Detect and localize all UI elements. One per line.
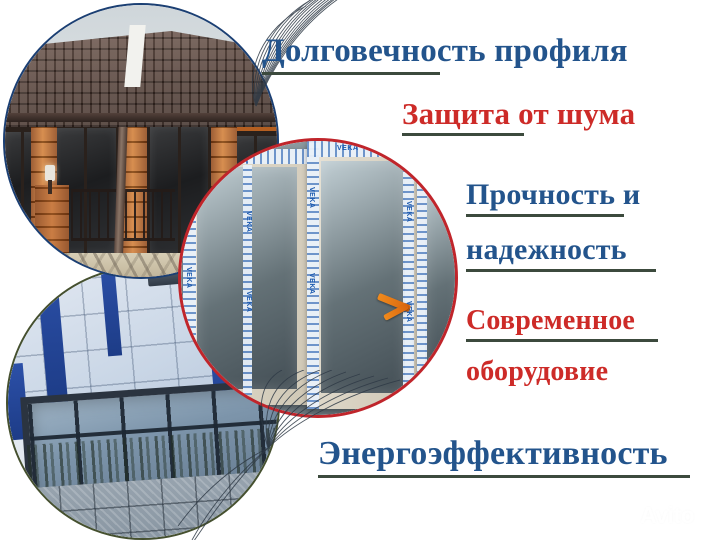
veka-brand-text: VEKA: [337, 145, 358, 152]
slogan-underline: [318, 475, 690, 478]
slogan-durability: Долговечность профиля: [262, 35, 628, 75]
slogan-energy-efficiency: Энергоэффективность: [318, 437, 690, 478]
veka-brand-text: VEKA: [227, 158, 248, 165]
veka-protective-tape: [403, 155, 414, 403]
veka-brand-text: VEKA: [405, 201, 412, 222]
veka-brand-text: VEKA: [185, 267, 192, 288]
slogan-strength-line2: надежность: [466, 235, 656, 272]
slogan-modern-equipment-line2: оборудовие: [466, 358, 608, 386]
veka-brand-text: VEKA: [245, 211, 252, 232]
veka-brand-text: VEKA: [308, 273, 315, 294]
slogan-underline: [466, 269, 656, 272]
slogan-underline: [466, 339, 658, 342]
avito-logo-icon: [614, 505, 636, 525]
slogan-text: Прочность и: [466, 178, 640, 211]
veka-protective-tape: [417, 167, 427, 387]
house-wall-lamp: [45, 165, 55, 181]
avito-watermark: Avito: [614, 500, 710, 530]
veka-brand-text: VEKA: [185, 195, 192, 216]
avito-watermark-text: Avito: [640, 502, 694, 529]
veka-windows-photo: VEKA VEKA VEKA VEKA VEKA VEKA VEKA VEKA …: [178, 138, 458, 418]
banner-canvas: VEKA VEKA VEKA VEKA VEKA VEKA VEKA VEKA …: [0, 0, 720, 540]
veka-window-glass: [425, 181, 455, 371]
slogan-text: оборудовие: [466, 356, 608, 387]
slogan-underline: [402, 133, 524, 136]
slogan-text: надежность: [466, 233, 627, 266]
slogan-text: Современное: [466, 305, 635, 336]
slogan-text: Долговечность профиля: [262, 33, 628, 69]
veka-brand-text: VEKA: [308, 187, 315, 208]
slogan-text: Энергоэффективность: [318, 435, 668, 472]
slogan-noise-protection: Защита от шума: [402, 98, 635, 136]
slogan-text: Защита от шума: [402, 96, 635, 131]
veka-window-glass: [321, 161, 405, 393]
house-eave: [5, 113, 277, 122]
veka-protective-tape: [243, 165, 252, 395]
slogan-underline: [466, 214, 624, 217]
slogan-strength-line1: Прочность и: [466, 180, 640, 217]
slogan-underline: [262, 72, 440, 75]
slogan-modern-equipment-line1: Современное: [466, 307, 658, 342]
veka-brand-text: VEKA: [245, 291, 252, 312]
